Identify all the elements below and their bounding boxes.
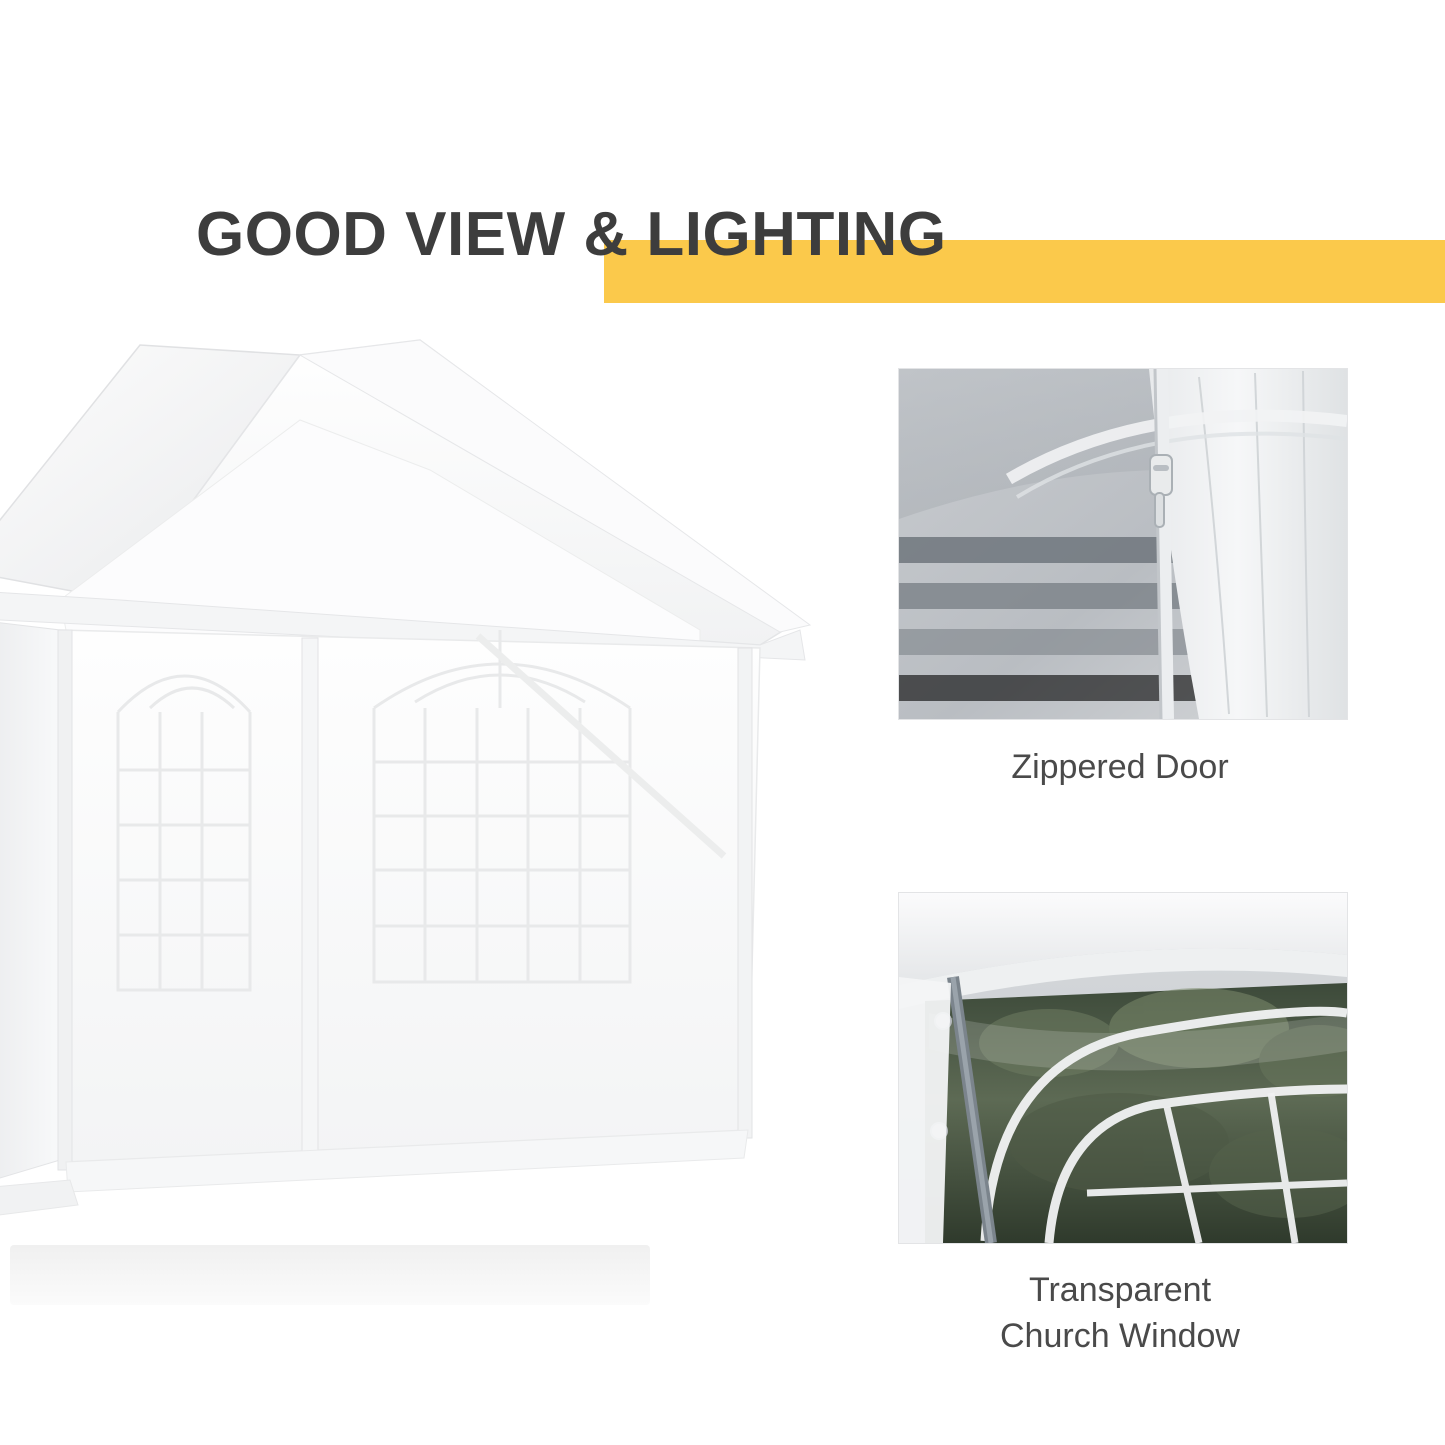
page-header: GOOD VIEW & LIGHTING — [0, 96, 1445, 216]
hero-ground-shadow — [10, 1245, 650, 1305]
caption-window-line-2: Church Window — [840, 1314, 1400, 1360]
caption-zippered-door: Zippered Door — [840, 745, 1400, 791]
feature-image-zippered-door — [898, 368, 1348, 720]
feature-image-transparent-church-window — [898, 892, 1348, 1244]
page-title: GOOD VIEW & LIGHTING — [196, 204, 947, 266]
caption-zippered-door-line-1: Zippered Door — [840, 745, 1400, 791]
caption-window-line-1: Transparent — [840, 1268, 1400, 1314]
hero-product-image — [0, 300, 860, 1310]
caption-transparent-church-window: Transparent Church Window — [840, 1268, 1400, 1360]
